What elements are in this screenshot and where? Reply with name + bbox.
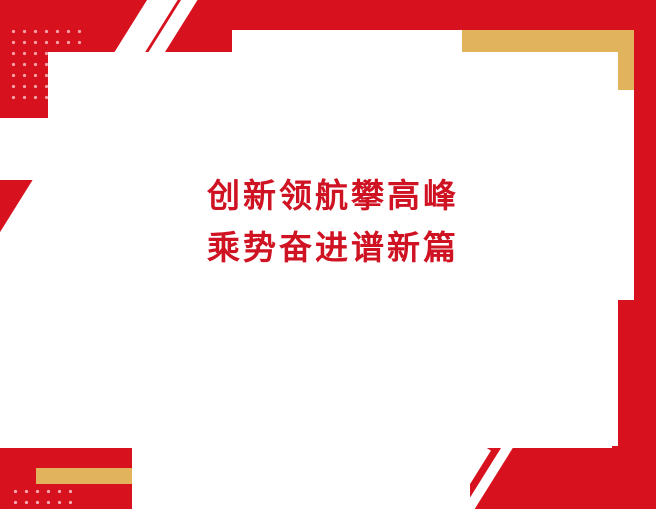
right-red-column bbox=[634, 0, 656, 310]
poster-canvas: 创新领航攀高峰 乘势奋进谱新篇 bbox=[0, 0, 656, 509]
bottom-left-gold-bar bbox=[36, 468, 132, 484]
top-red-bar bbox=[228, 0, 656, 30]
content-card: 创新领航攀高峰 乘势奋进谱新篇 bbox=[48, 52, 618, 446]
headline-block: 创新领航攀高峰 乘势奋进谱新篇 bbox=[48, 170, 618, 274]
right-red-lower-block bbox=[612, 300, 656, 448]
headline-line-2: 乘势奋进谱新篇 bbox=[48, 222, 618, 274]
bottom-left-dot-pattern bbox=[10, 486, 76, 508]
headline-line-1: 创新领航攀高峰 bbox=[48, 170, 618, 222]
